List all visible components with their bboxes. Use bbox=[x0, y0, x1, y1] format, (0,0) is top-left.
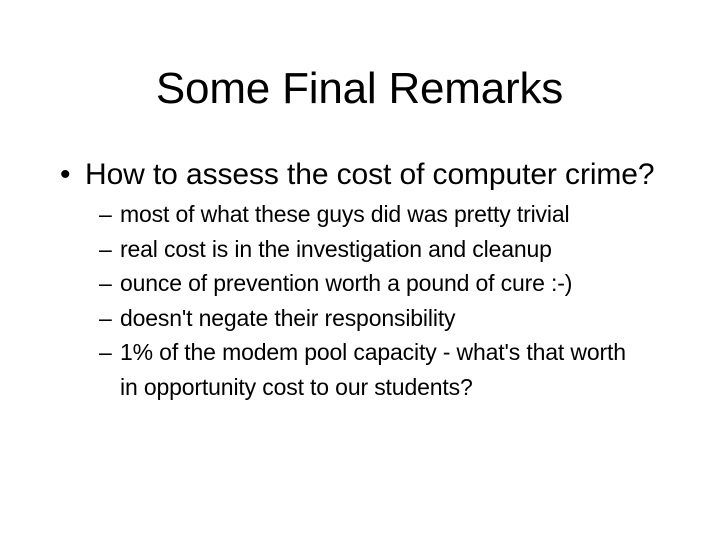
bullet-level1: • How to assess the cost of computer cri… bbox=[0, 157, 719, 193]
list-item: – real cost is in the investigation and … bbox=[0, 232, 719, 267]
bullet-level1-label: How to assess the cost of computer crime… bbox=[85, 158, 654, 191]
bullet-level2-label: doesn't negate their responsibility bbox=[120, 301, 635, 336]
bullet-level2-label: real cost is in the investigation and cl… bbox=[120, 232, 635, 267]
en-dash-icon: – bbox=[99, 266, 112, 301]
list-item: – most of what these guys did was pretty… bbox=[0, 197, 719, 232]
list-item: – ounce of prevention worth a pound of c… bbox=[0, 266, 719, 301]
bullet-level2-label: most of what these guys did was pretty t… bbox=[120, 197, 635, 232]
list-item: – doesn't negate their responsibility bbox=[0, 301, 719, 336]
en-dash-icon: – bbox=[99, 197, 112, 232]
list-item: – 1% of the modem pool capacity - what's… bbox=[0, 335, 719, 404]
en-dash-icon: – bbox=[99, 335, 112, 370]
slide-title: Some Final Remarks bbox=[0, 63, 719, 115]
bullet-level2-label: ounce of prevention worth a pound of cur… bbox=[120, 266, 635, 301]
bullet-dot-icon: • bbox=[60, 157, 70, 193]
slide-body: • How to assess the cost of computer cri… bbox=[0, 157, 719, 404]
presentation-slide: Some Final Remarks • How to assess the c… bbox=[0, 0, 719, 539]
bullet-level2-label: 1% of the modem pool capacity - what's t… bbox=[120, 335, 635, 404]
en-dash-icon: – bbox=[99, 232, 112, 267]
en-dash-icon: – bbox=[99, 301, 112, 336]
bullet-level2-list: – most of what these guys did was pretty… bbox=[0, 197, 719, 404]
